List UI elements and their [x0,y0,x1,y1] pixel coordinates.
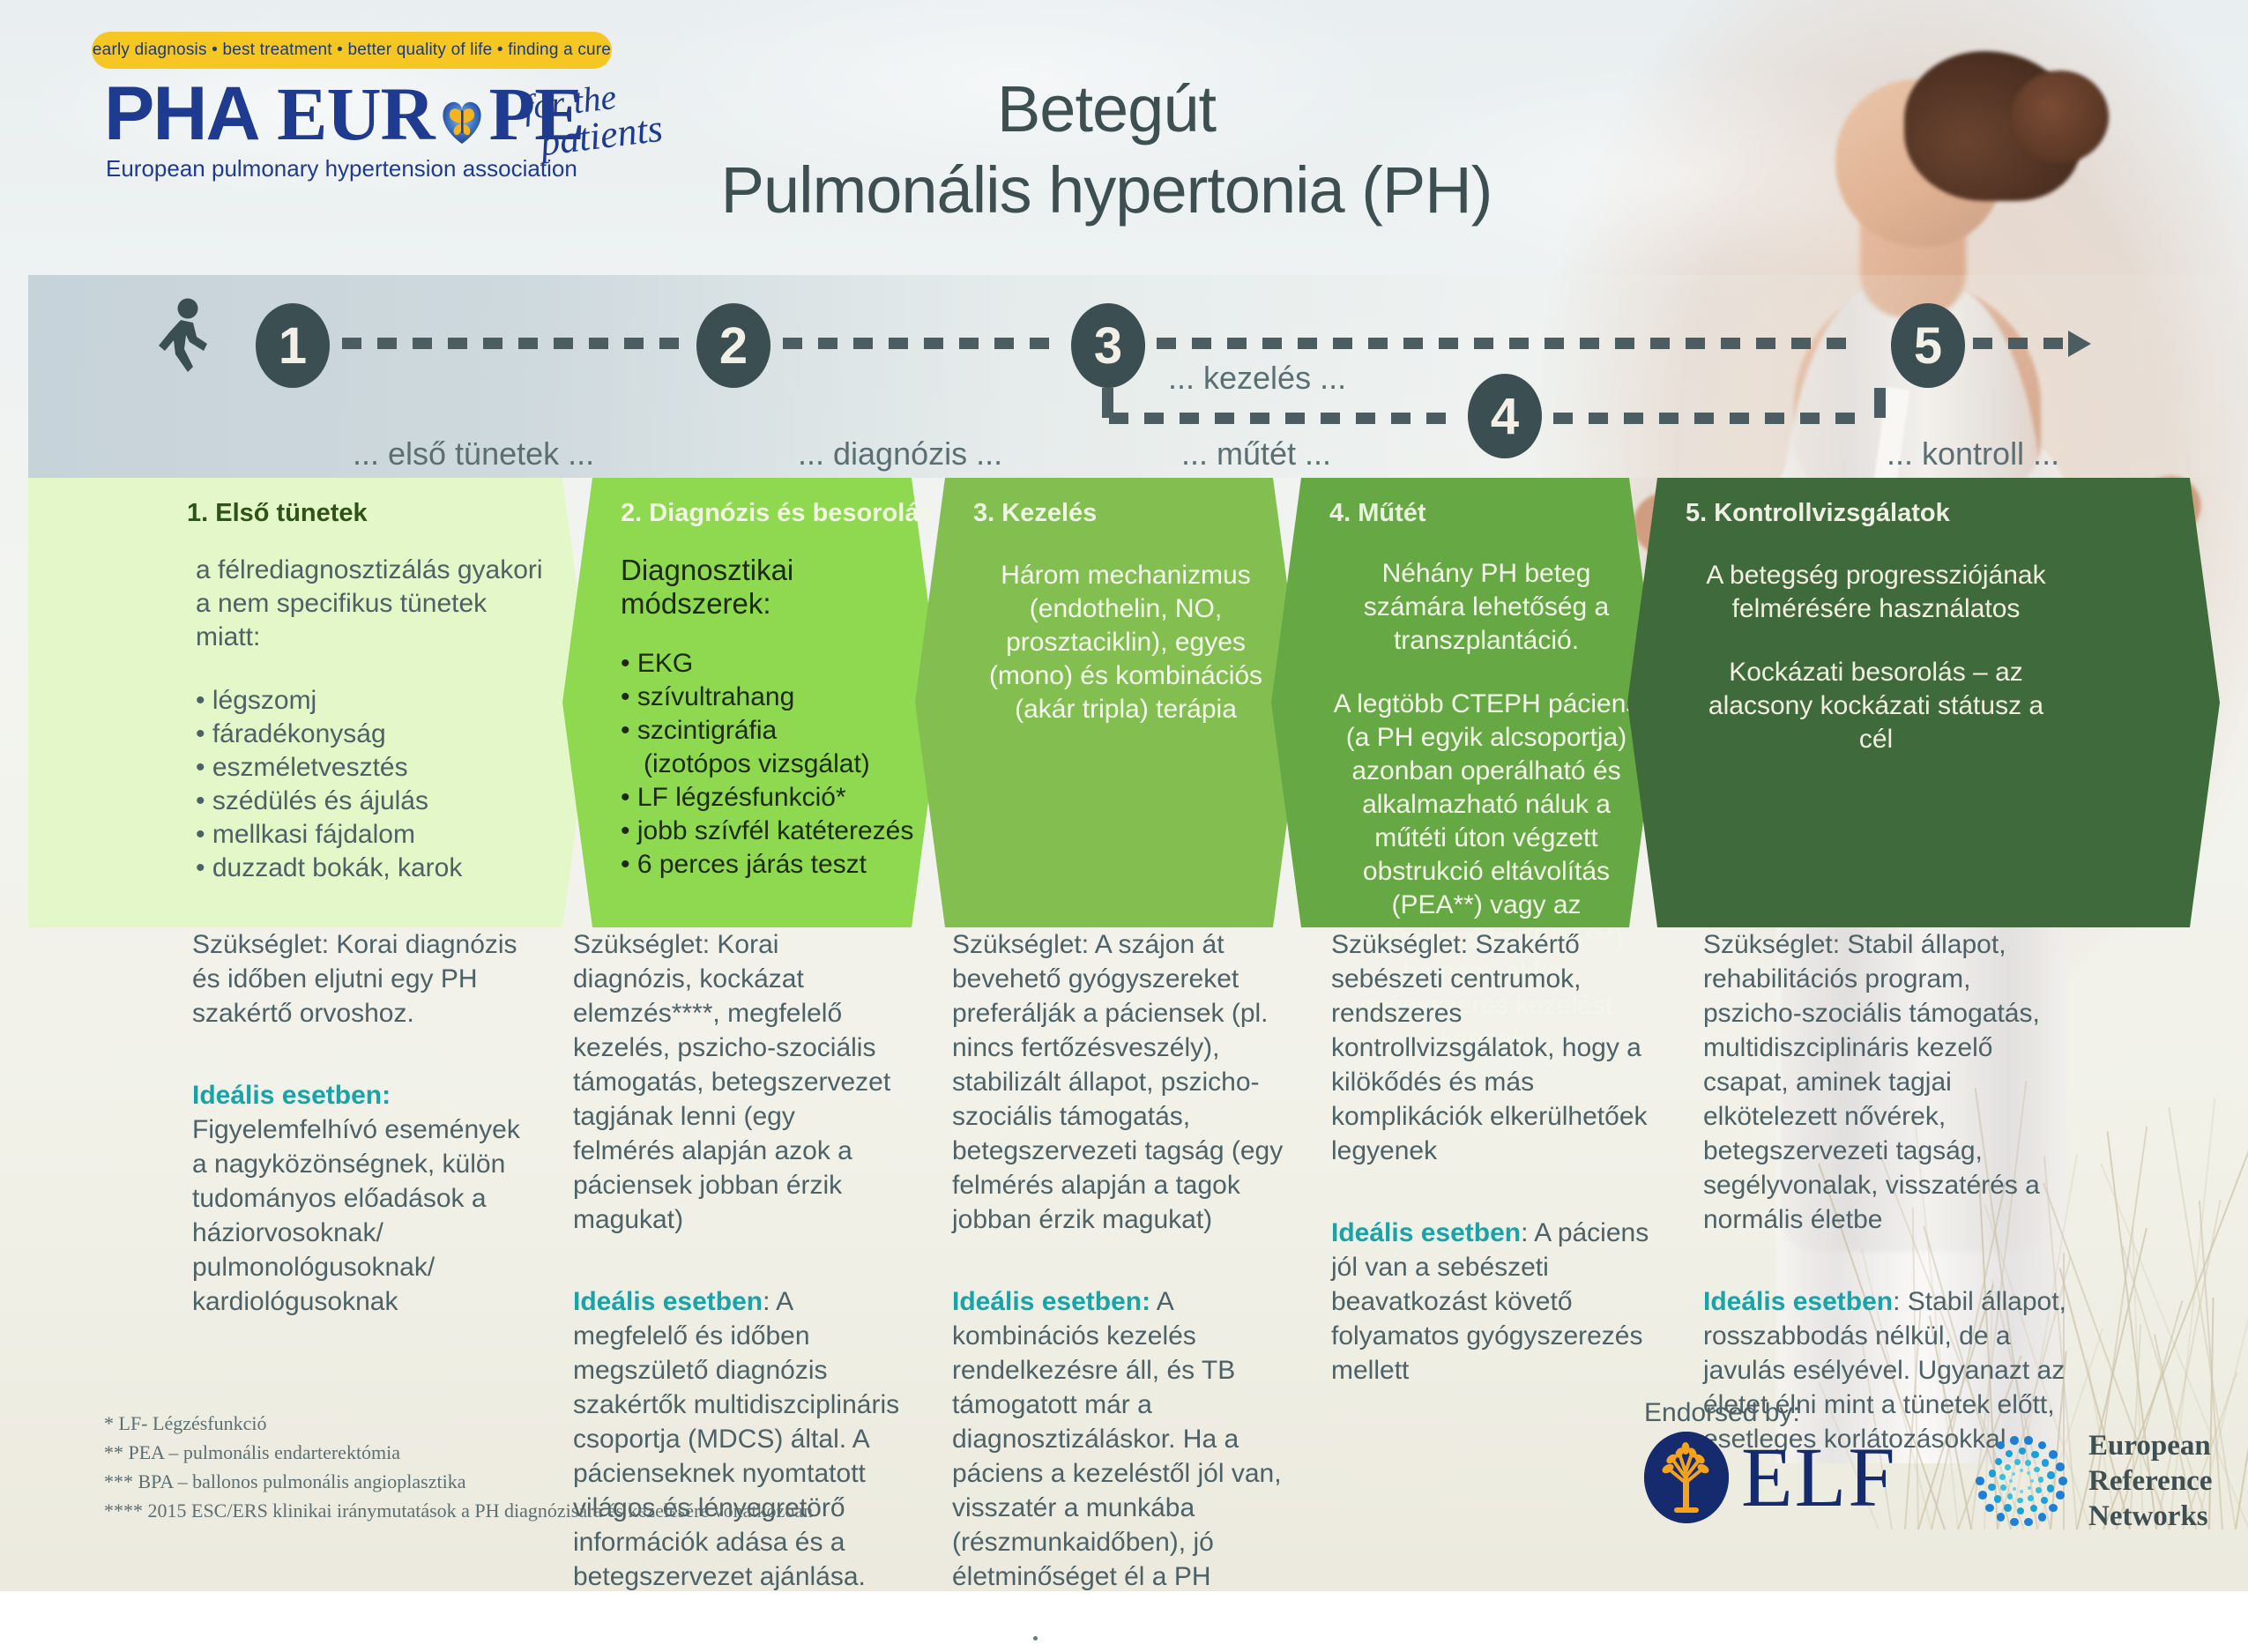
ern-dot [1997,1513,2006,1522]
bullet-dot-icon: • [621,649,630,678]
endorsed-label: Endorsed by: [1644,1398,1800,1428]
ern-dot [2000,1485,2006,1491]
stage-title: 2. Diagnózis és besorolás [621,499,934,528]
walking-person-icon [154,298,218,379]
stage-paragraph: Kockázati besorolás – az alacsony kockáz… [1691,656,2061,756]
bottom-dot-mark [1033,1636,1038,1641]
hair-bun [2012,71,2109,163]
ideal-label: Ideális esetben: [952,1287,1150,1316]
stage-title: 5. Kontrollvizsgálatok [1686,499,1950,528]
stage-panel-5[interactable]: 5. KontrollvizsgálatokA betegség progres… [1627,478,2220,927]
ern-dot [1995,1458,2003,1466]
ern-dot [1985,1504,1994,1513]
tree-in-circle-icon [1644,1432,1729,1523]
stage-bullet: • légszomj [196,684,548,718]
poster-root: early diagnosis • best treatment • bette… [0,0,2248,1652]
timeline-label: ... műtét ... [1181,435,1331,473]
timeline-node-3[interactable]: 3 [1071,303,1145,388]
stage-panel-4[interactable]: 4. MűtétNéhány PH beteg számára lehetősé… [1271,478,1659,927]
requirement-paragraph: Szükséglet: Korai diagnózis és időben el… [192,927,527,1031]
bullet-dot-icon: • [196,820,205,849]
ern-dot [2009,1479,2013,1483]
ern-dot [2028,1486,2031,1490]
logo-pha: PHA [104,71,259,156]
timeline-label: ... kezelés ... [1168,360,1346,397]
bullet-dot-icon: • [621,716,630,745]
ern-dot [1999,1474,2006,1480]
bullet-dot-icon: • [196,853,205,882]
pha-europe-logo: early diagnosis • best treatment • bette… [51,30,615,189]
ern-dot [2049,1450,2058,1459]
timeline-node-1[interactable]: 1 [256,303,330,388]
bottom-white-band [0,1591,2248,1652]
timeline-label: ... diagnózis ... [798,435,1002,473]
bullet-dot-icon: • [196,686,205,715]
dotted-circle-icon [1970,1430,2073,1532]
ern-dot [2017,1507,2025,1515]
timeline-label: ... kontroll ... [1887,435,2059,473]
ern-line-2: Reference [2088,1463,2212,1499]
timeline-arrowhead [2068,331,2091,357]
ern-dot [2025,1460,2031,1466]
ideal-text: Figyelemfelhívó események a nagyközönség… [192,1115,520,1316]
ideal-label: Ideális esetben [573,1287,763,1316]
ern-dot [2041,1497,2049,1505]
ern-dot [2042,1459,2050,1467]
stage-bullet: • szívultrahang [621,681,931,714]
ern-dot [2010,1436,2019,1445]
timeline-dash-segment [1553,413,1880,424]
stage-bullet: • jobb szívfél katéterezés [621,815,931,848]
ern-dot [2036,1487,2042,1493]
bullet-dot-icon: • [196,753,205,782]
ern-dot [2030,1505,2038,1513]
stage-bullet: • fáradékonyság [196,718,548,751]
ern-dot [2030,1479,2034,1483]
ern-line-3: Networks [2088,1499,2212,1534]
detail-column-1: Szükséglet: Korai diagnózis és időben el… [192,927,527,1319]
elf-wordmark: ELF [1741,1435,1897,1520]
stage-panel-3[interactable]: 3. KezelésHárom mechanizmus (endothelin,… [915,478,1303,927]
ern-dot [1978,1491,1987,1499]
timeline-node-2[interactable]: 2 [696,303,770,388]
bullet-dot-icon: • [196,719,205,748]
ern-dot [2028,1495,2034,1501]
ern-dot [2024,1436,2033,1445]
ern-dot [2010,1518,2019,1527]
ern-dot [2020,1490,2023,1493]
ern-line-1: European [2088,1428,2212,1463]
stage-title: 3. Kezelés [973,499,1097,528]
requirement-paragraph: Szükséglet: Korai diagnózis, kockázat el… [573,927,901,1237]
stage-bullet-list: • légszomj• fáradékonyság• eszméletveszt… [196,684,548,885]
stage-bullet: • szédülés és ájulás [196,785,548,818]
ern-dot [2005,1464,2011,1470]
stage-body: a félrediagnosztizálás gyakori a nem spe… [196,554,548,885]
ern-dot [2047,1471,2055,1479]
ern-dot [2056,1491,2065,1499]
logo-wordmark: PHA EUR PE [104,76,584,152]
stage-intro: Diagnosztikai módszerek: [621,554,931,621]
ern-dot [2034,1467,2040,1473]
butterfly-heart-icon [435,93,489,148]
stage-body: Három mechanizmus (endothelin, NO, prosz… [964,559,1287,726]
ern-wordmark: European Reference Networks [2088,1428,2212,1534]
timeline-dash-segment [1109,413,1453,424]
ern-dot [2004,1504,2012,1512]
requirement-paragraph: Szükséglet: Stabil állapot, rehabilitáci… [1703,927,2073,1237]
stage-body: Diagnosztikai módszerek:• EKG• szívultra… [621,554,931,882]
ideal-label: Ideális esetben: [192,1081,391,1110]
ern-dot [2027,1471,2030,1475]
footnote-item: *** BPA – ballonos pulmonális angioplasz… [104,1467,986,1496]
detail-column-4: Szükséglet: Szakértő sebészeti centrumok… [1331,927,1671,1388]
logo-spacer [259,71,278,156]
ern-dot [2024,1518,2033,1527]
bullet-dot-icon: • [621,850,630,879]
elf-logo: ELF [1644,1432,1897,1523]
stage-bullet: • 6 perces járás teszt [621,848,931,882]
timeline-branch-rise [1874,388,1886,418]
ern-dot [1976,1477,1984,1485]
footnote-item: * LF- Légzésfunkció [104,1409,986,1438]
timeline-dash-segment [1973,338,2063,349]
stage-paragraph: A betegség progressziójának felmérésére … [1691,559,2061,626]
ideal-paragraph: Ideális esetben: A páciens jól van a seb… [1331,1216,1671,1388]
stage-bullet: • eszméletvesztés [196,751,548,785]
stage-panel-1[interactable]: 1. Első tüneteka félrediagnosztizálás gy… [28,478,592,927]
ern-dot [2038,1441,2047,1450]
title-line-1: Betegút [608,69,1604,150]
detail-column-5: Szükséglet: Stabil állapot, rehabilitáci… [1703,927,2073,1456]
page-title: Betegút Pulmonális hypertonia (PH) [608,69,1604,231]
ern-dot [2013,1487,2016,1491]
detail-column-3: Szükséglet: A szájon át bevehető gyógysz… [952,927,1305,1652]
timeline-dash-segment [1157,338,1876,349]
stage-body: A betegség progressziójának felmérésére … [1691,559,2061,756]
bullet-dot-icon: • [621,816,630,845]
stage-panels: 1. Első tüneteka félrediagnosztizálás gy… [28,478,2220,927]
ideal-label: Ideális esetben [1703,1287,1893,1316]
stage-intro: a félrediagnosztizálás gyakori a nem spe… [196,554,548,654]
footnotes: * LF- Légzésfunkció** PEA – pulmonális e… [104,1409,986,1525]
ern-logo: European Reference Networks [1970,1428,2212,1534]
ern-dot [1989,1470,1997,1477]
ern-dot [1988,1484,1996,1492]
ideal-paragraph: Ideális esetben:Figyelemfelhívó eseménye… [192,1078,527,1319]
logo-subtitle: European pulmonary hypertension associat… [106,155,577,182]
ern-dot [1997,1441,2006,1450]
stage-title: 4. Műtét [1329,499,1426,528]
bullet-dot-icon: • [621,783,630,812]
logo-tagline: early diagnosis • best treatment • bette… [92,32,612,69]
timeline-dash-segment [783,338,1054,349]
timeline-node-5[interactable]: 5 [1891,303,1965,388]
stage-panel-2[interactable]: 2. Diagnózis és besorolásDiagnosztikai m… [562,478,942,927]
ern-dot [2058,1477,2067,1485]
ern-dot [2049,1504,2058,1513]
ern-dot [2019,1447,2027,1455]
ern-dot [2038,1477,2044,1483]
logo-europe-pre: EUR [277,71,435,156]
timeline-node-4[interactable]: 4 [1468,374,1542,458]
ern-dot [2020,1469,2023,1472]
timeline-label: ... első tünetek ... [353,435,594,473]
ern-dot [2017,1498,2023,1504]
timeline-dash-segment [342,338,679,349]
ern-dot [2014,1459,2021,1465]
stage-bullet: • EKG [621,647,931,681]
stage-bullet: • szcintigráfia [621,714,931,748]
ern-dot [2007,1493,2014,1499]
title-line-2: Pulmonális hypertonia (PH) [608,150,1604,231]
ern-dot [2031,1451,2039,1459]
ideal-label: Ideális esetben [1331,1218,1521,1247]
endorsed-by-block: Endorsed by: [1644,1398,2226,1557]
stage-paragraph: Néhány PH beteg számára lehetőség a tran… [1331,557,1641,658]
bullet-dot-icon: • [621,682,630,711]
stage-bullet: • mellkasi fájdalom [196,818,548,852]
footnote-item: ** PEA – pulmonális endarterektómia [104,1438,986,1467]
ern-dot [2006,1450,2014,1458]
requirement-paragraph: Szükséglet: A szájon át bevehető gyógysz… [952,927,1305,1237]
ern-dot [2038,1513,2047,1522]
ern-dot [1994,1495,2002,1503]
stage-bullet: • LF légzésfunkció* [621,781,931,815]
stage-title: 1. Első tünetek [187,499,368,528]
stage-bullet-list: • EKG• szívultrahang• szcintigráfia(izot… [621,647,931,882]
ern-dot [2047,1485,2055,1492]
stage-bullet: • duzzadt bokák, karok [196,852,548,885]
stage-bullet: (izotópos vizsgálat) [621,748,931,781]
ern-dot [2012,1472,2015,1476]
ern-dot [2056,1462,2065,1471]
requirement-paragraph: Szükséglet: Szakértő sebészeti centrumok… [1331,927,1671,1168]
footnote-item: **** 2015 ESC/ERS klinikai iránymutatáso… [104,1496,986,1525]
bullet-dot-icon: • [196,786,205,815]
stage-paragraph: Három mechanizmus (endothelin, NO, prosz… [964,559,1287,726]
